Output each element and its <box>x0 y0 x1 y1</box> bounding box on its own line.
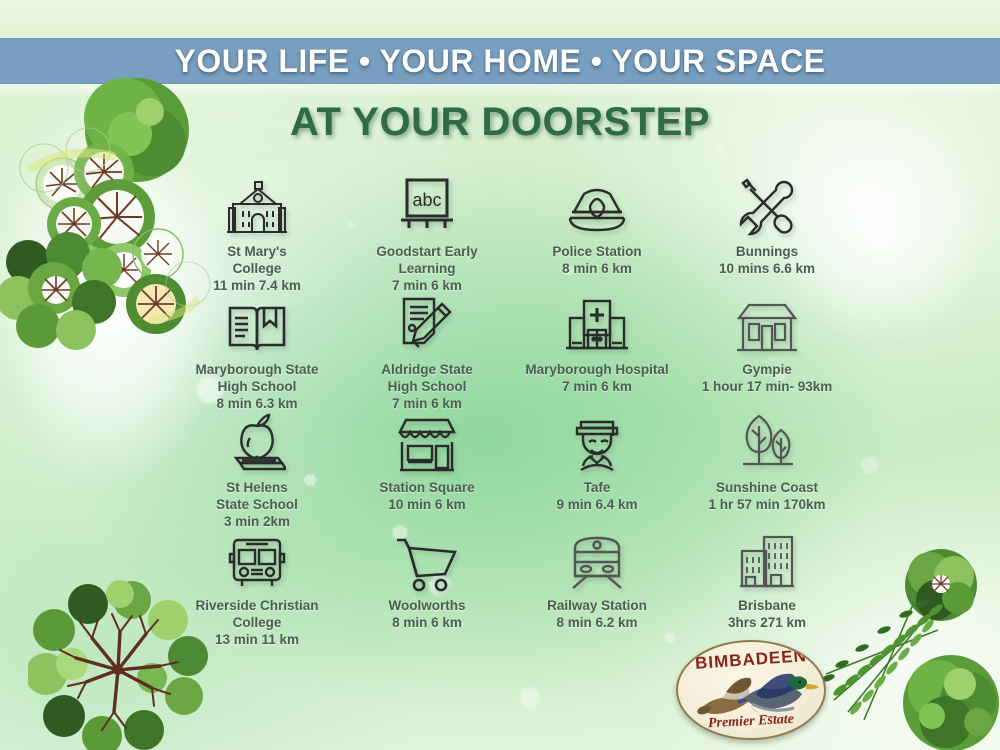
amenity-distance: 10 min 6 km <box>342 496 512 513</box>
amenity-distance: 3hrs 271 km <box>682 614 852 631</box>
amenity-item[interactable]: Sunshine Coast 1 hr 57 min 170km <box>682 412 852 530</box>
storefront-icon <box>342 412 512 474</box>
tagline-banner: YOUR LIFE • YOUR HOME • YOUR SPACE <box>0 38 1000 84</box>
amenity-item[interactable]: Riverside Christian College 13 min 11 km <box>172 530 342 648</box>
amenity-item[interactable]: Maryborough State High School 8 min 6.3 … <box>172 294 342 412</box>
shopping-cart-icon <box>342 530 512 592</box>
amenity-name: Maryborough State High School <box>172 361 342 395</box>
blackboard-abc-icon: abc <box>342 176 512 238</box>
poster: YOUR LIFE • YOUR HOME • YOUR SPACE AT YO… <box>0 0 1000 750</box>
graduate-student-icon <box>512 412 682 474</box>
amenity-name: Goodstart Early Learning <box>342 243 512 277</box>
open-book-icon <box>172 294 342 356</box>
top-strip <box>0 0 1000 38</box>
amenity-item[interactable]: Police Station 8 min 6 km <box>512 176 682 294</box>
amenity-distance: 10 mins 6.6 km <box>682 260 852 277</box>
amenity-item[interactable]: Maryborough Hospital 7 min 6 km <box>512 294 682 412</box>
amenity-distance: 8 min 6 km <box>512 260 682 277</box>
amenity-item[interactable]: Gympie 1 hour 17 min- 93km <box>682 294 852 412</box>
amenity-name: Police Station <box>512 243 682 260</box>
trees-icon <box>682 412 852 474</box>
amenity-name: Aldridge State High School <box>342 361 512 395</box>
amenity-name: Bunnings <box>682 243 852 260</box>
amenity-distance: 7 min 6 km <box>512 378 682 395</box>
house-shop-icon <box>682 294 852 356</box>
amenity-item[interactable]: St Mary's College 11 min 7.4 km <box>172 176 342 294</box>
tagline-text: YOUR LIFE • YOUR HOME • YOUR SPACE <box>174 43 825 80</box>
amenity-name: Station Square <box>342 479 512 496</box>
amenity-item[interactable]: Railway Station 8 min 6.2 km <box>512 530 682 648</box>
amenity-distance: 7 min 6 km <box>342 277 512 294</box>
estate-logo[interactable]: BIMBADEEN Premier Estate <box>676 640 826 740</box>
banner-under-strip <box>0 84 1000 98</box>
amenity-distance: 8 min 6 km <box>342 614 512 631</box>
train-icon <box>512 530 682 592</box>
amenities-grid: St Mary's College 11 min 7.4 km abc Good… <box>172 176 852 648</box>
page-title: AT YOUR DOORSTEP <box>0 100 1000 145</box>
amenity-item[interactable]: abc Goodstart Early Learning 7 min 6 km <box>342 176 512 294</box>
tools-wrench-screwdriver-icon <box>682 176 852 238</box>
apple-on-books-icon <box>172 412 342 474</box>
amenity-item[interactable]: St Helens State School 3 min 2km <box>172 412 342 530</box>
amenity-distance: 7 min 6 km <box>342 395 512 412</box>
amenity-name: Tafe <box>512 479 682 496</box>
amenity-distance: 13 min 11 km <box>172 631 342 648</box>
school-building-icon <box>172 176 342 238</box>
amenity-distance: 9 min 6.4 km <box>512 496 682 513</box>
school-bus-icon <box>172 530 342 592</box>
amenity-name: St Mary's College <box>172 243 342 277</box>
amenity-item[interactable]: Aldridge State High School 7 min 6 km <box>342 294 512 412</box>
amenity-name: Gympie <box>682 361 852 378</box>
amenity-distance: 1 hour 17 min- 93km <box>682 378 852 395</box>
amenity-distance: 1 hr 57 min 170km <box>682 496 852 513</box>
diploma-pen-icon <box>342 294 512 356</box>
amenity-item[interactable]: Tafe 9 min 6.4 km <box>512 412 682 530</box>
amenity-name: St Helens State School <box>172 479 342 513</box>
amenity-name: Brisbane <box>682 597 852 614</box>
amenity-item[interactable]: Station Square 10 min 6 km <box>342 412 512 530</box>
amenity-name: Riverside Christian College <box>172 597 342 631</box>
amenity-distance: 3 min 2km <box>172 513 342 530</box>
amenity-item[interactable]: Brisbane 3hrs 271 km <box>682 530 852 648</box>
amenity-distance: 8 min 6.2 km <box>512 614 682 631</box>
amenity-item[interactable]: Woolworths 8 min 6 km <box>342 530 512 648</box>
amenity-name: Maryborough Hospital <box>512 361 682 378</box>
amenity-distance: 8 min 6.3 km <box>172 395 342 412</box>
amenity-item[interactable]: Bunnings 10 mins 6.6 km <box>682 176 852 294</box>
police-cap-icon <box>512 176 682 238</box>
hospital-icon <box>512 294 682 356</box>
amenity-distance: 11 min 7.4 km <box>172 277 342 294</box>
city-buildings-icon <box>682 530 852 592</box>
amenity-name: Railway Station <box>512 597 682 614</box>
amenity-name: Woolworths <box>342 597 512 614</box>
logo-oval-background: BIMBADEEN Premier Estate <box>676 640 826 740</box>
svg-text:abc: abc <box>412 190 441 210</box>
amenity-name: Sunshine Coast <box>682 479 852 496</box>
